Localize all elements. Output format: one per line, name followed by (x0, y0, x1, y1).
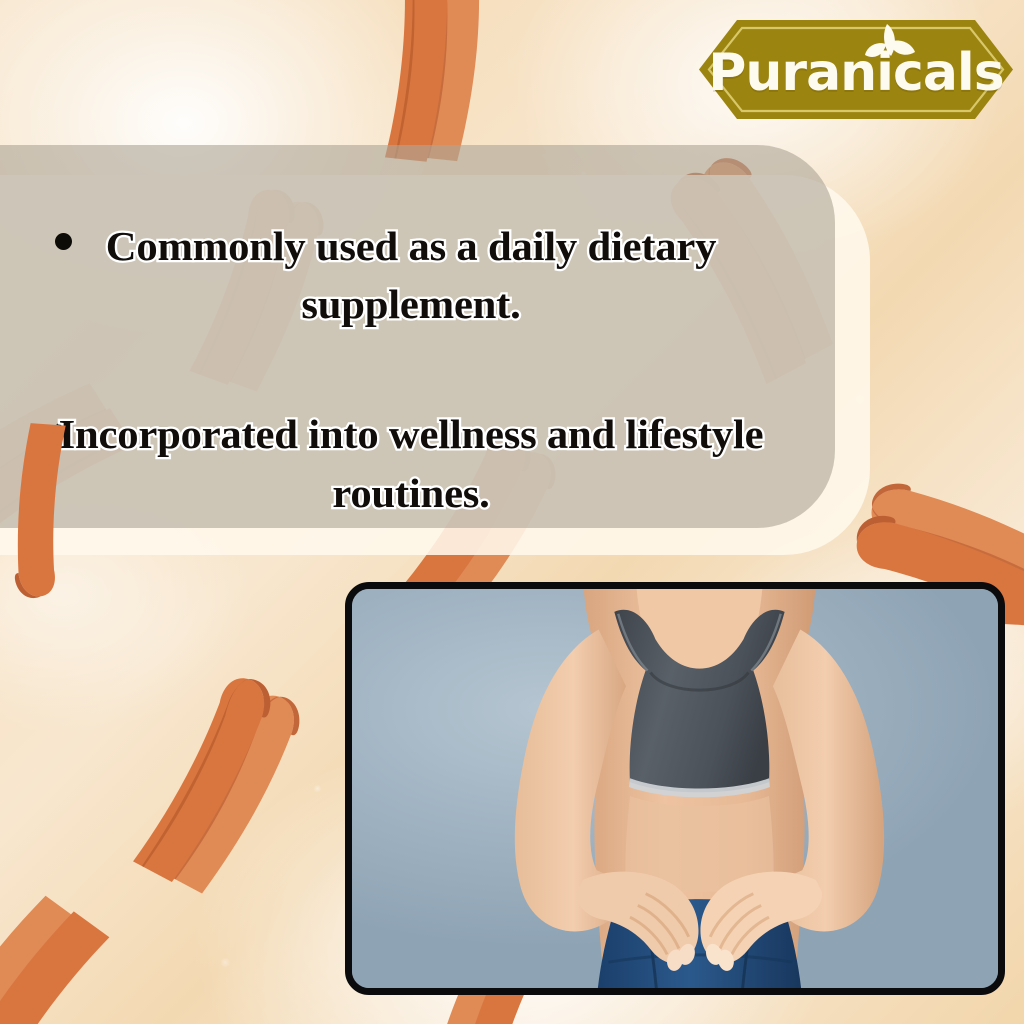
bullet-text: Incorporated into wellness and lifestyle… (58, 405, 763, 521)
woman-heart-hands-illustration (352, 589, 998, 988)
list-item: Incorporated into wellness and lifestyle… (0, 333, 880, 521)
bullet-text: Commonly used as a daily dietary supplem… (58, 217, 763, 333)
brand-logo[interactable]: Puranicals (697, 18, 1015, 121)
photo-image (352, 589, 998, 988)
list-item: Commonly used as a daily dietary supplem… (0, 145, 880, 333)
photo-card (345, 582, 1005, 995)
cinnamon-sticks-icon (0, 411, 100, 620)
poster-canvas: Commonly used as a daily dietary supplem… (0, 0, 1024, 1024)
bullet-list: Commonly used as a daily dietary supplem… (0, 145, 880, 522)
logo-wordmark: Puranicals (697, 18, 1015, 121)
